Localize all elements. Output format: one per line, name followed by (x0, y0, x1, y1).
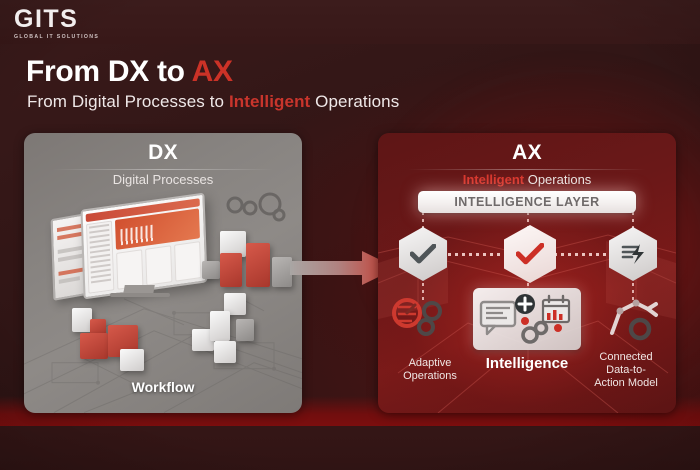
panel-dx-subtitle: Digital Processes (24, 172, 302, 187)
gears-icon (523, 323, 547, 343)
cube-block (220, 253, 242, 287)
panel-dx-divider (52, 169, 274, 170)
gauge-gears-icon (390, 295, 452, 343)
panel-ax-subtitle: Intelligent Operations (378, 172, 676, 187)
monitor-card-row (116, 241, 201, 290)
intelligence-layer-label: INTELLIGENCE LAYER (454, 195, 599, 209)
cube-block (72, 308, 92, 332)
robot-arm-gear-icon (606, 295, 668, 343)
monitor-base (110, 293, 170, 297)
page-subtitle-accent: Intelligent (229, 92, 310, 111)
ax-label-intelligence: Intelligence (477, 357, 577, 370)
brand-tagline: GLOBAL IT SOLUTIONS (14, 34, 114, 40)
intelligence-layer-pill[interactable]: INTELLIGENCE LAYER (418, 191, 636, 213)
label-line: Operations (382, 370, 478, 383)
panel-dx[interactable]: DX Digital Processes Workflow (24, 133, 302, 413)
intelligence-card-icons (473, 288, 581, 350)
monitor-sidebar (86, 220, 114, 293)
page-subtitle-suffix: Operations (310, 92, 399, 111)
label-line: Intelligence (477, 357, 577, 370)
document-lightning-icon (620, 242, 646, 266)
cube-block (236, 319, 254, 341)
intelligence-card[interactable] (473, 288, 581, 350)
cube-block (214, 341, 236, 363)
brand-name: GITS (14, 7, 114, 32)
chat-bubble-icon (481, 302, 515, 334)
cube-block (210, 311, 230, 341)
label-line: Adaptive (382, 357, 478, 370)
panel-ax[interactable]: AX Intelligent Operations INTELLIGENCE L… (378, 133, 676, 413)
panel-dx-footer-label: Workflow (24, 379, 302, 395)
check-icon (516, 243, 544, 265)
gears-icon (222, 191, 288, 225)
page-title-accent: AX (192, 55, 233, 88)
cube-block (272, 257, 292, 287)
label-line: Connected (578, 351, 674, 364)
page-title-prefix: From DX to (26, 55, 192, 88)
plus-circle-icon (515, 294, 535, 325)
panel-ax-title: AX (378, 141, 676, 165)
panel-ax-subtitle-suffix: Operations (524, 172, 591, 187)
brand-logo: GITS GLOBAL IT SOLUTIONS (14, 7, 114, 40)
check-icon (410, 244, 436, 264)
slide-canvas: GITS GLOBAL IT SOLUTIONS From DX to AX F… (0, 0, 700, 470)
cube-block (202, 261, 220, 279)
page-subtitle-prefix: From Digital Processes to (27, 92, 229, 111)
ax-label-connected-model: Connected Data-to- Action Model (578, 351, 674, 390)
cube-block (120, 349, 144, 371)
label-line: Action Model (578, 377, 674, 390)
connector-line (554, 253, 608, 256)
page-subtitle: From Digital Processes to Intelligent Op… (27, 92, 399, 112)
ax-label-adaptive-operations: Adaptive Operations (382, 357, 478, 383)
panel-ax-subtitle-accent: Intelligent (463, 172, 524, 187)
cube-block (246, 243, 270, 287)
page-title: From DX to AX (26, 55, 233, 89)
dashboard-monitor (80, 193, 207, 300)
panel-dx-title: DX (24, 141, 302, 165)
connector-line (448, 253, 502, 256)
cube-block (80, 333, 108, 359)
panel-ax-divider (408, 169, 646, 170)
label-line: Data-to- (578, 364, 674, 377)
